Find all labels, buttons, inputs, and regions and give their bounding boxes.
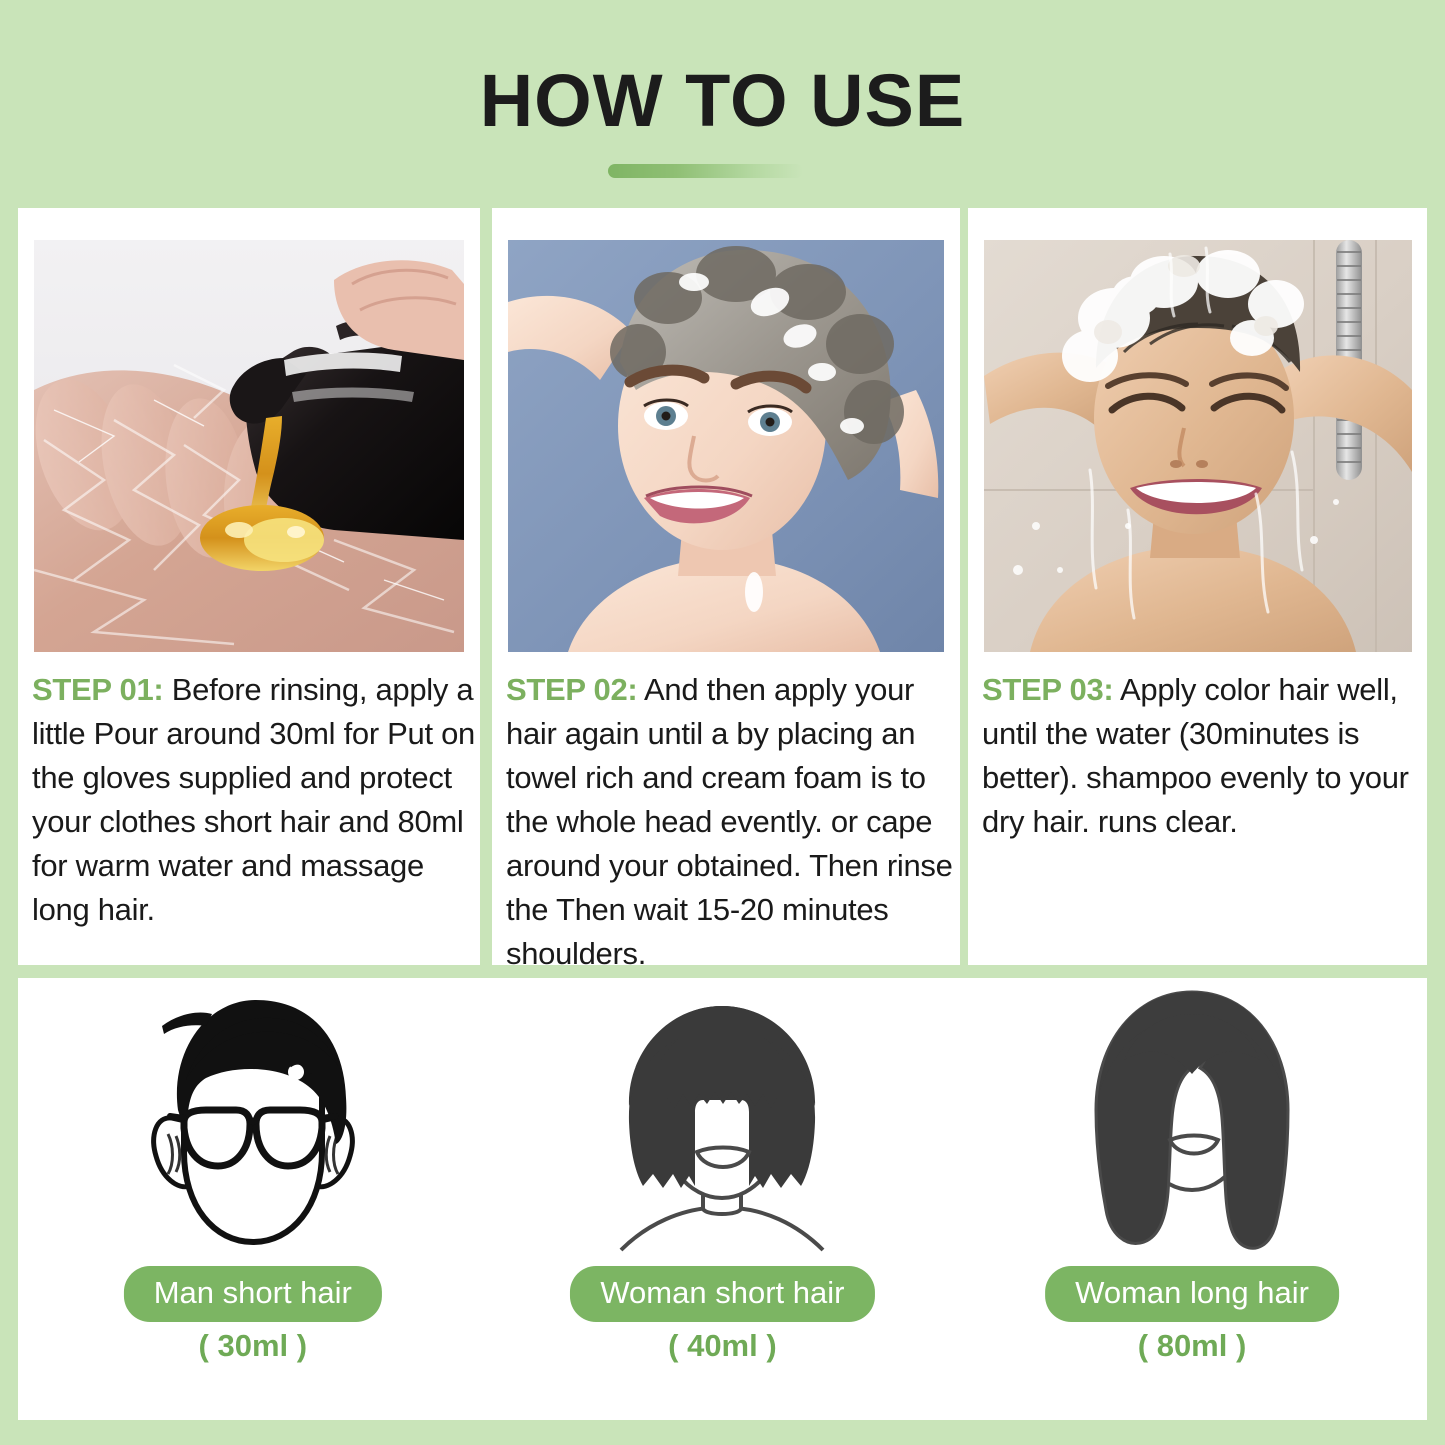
step-2-label: STEP 02: xyxy=(506,672,637,707)
step-card-2: STEP 02: And then apply your hair again … xyxy=(492,208,960,965)
man-short-hair-icon xyxy=(140,994,366,1256)
hair-type-woman-long: Woman long hair ( 80ml ) xyxy=(957,978,1427,1420)
page-title: HOW TO USE xyxy=(0,58,1445,143)
hair-type-card: Man short hair ( 30ml ) xyxy=(18,978,1427,1420)
step-2-photo xyxy=(508,240,944,652)
step-3-photo xyxy=(984,240,1412,652)
step-card-3: STEP 03: Apply color hair well, until th… xyxy=(968,208,1427,965)
woman-long-hair-figure xyxy=(957,988,1427,1256)
woman-long-hair-icon xyxy=(1074,984,1310,1256)
woman-short-hair-figure xyxy=(488,988,958,1256)
steps-row: STEP 01: Before rinsing, apply a little … xyxy=(18,208,1427,965)
step-1-body: Before rinsing, apply a little Pour arou… xyxy=(32,672,475,927)
hair-type-label-woman-short[interactable]: Woman short hair xyxy=(570,1266,874,1322)
hair-type-man-short: Man short hair ( 30ml ) xyxy=(18,978,488,1420)
step-card-1: STEP 01: Before rinsing, apply a little … xyxy=(18,208,480,965)
woman-lathering-shampoo-image xyxy=(508,240,944,652)
step-1-photo xyxy=(34,240,464,652)
step-3-text: STEP 03: Apply color hair well, until th… xyxy=(982,668,1428,844)
hair-type-volume-woman-short: ( 40ml ) xyxy=(488,1328,958,1364)
how-to-use-infographic: HOW TO USE xyxy=(0,0,1445,1445)
man-short-hair-figure xyxy=(18,988,488,1256)
pouring-oil-on-glove-image xyxy=(34,240,464,652)
step-1-label: STEP 01: xyxy=(32,672,163,707)
hair-type-woman-short: Woman short hair ( 40ml ) xyxy=(488,978,958,1420)
step-2-text: STEP 02: And then apply your hair again … xyxy=(506,668,958,976)
hair-type-label-woman-long[interactable]: Woman long hair xyxy=(1045,1266,1339,1322)
hair-type-volume-man-short: ( 30ml ) xyxy=(18,1328,488,1364)
woman-rinsing-hair-image xyxy=(984,240,1412,652)
hair-type-label-man-short[interactable]: Man short hair xyxy=(124,1266,382,1322)
step-1-text: STEP 01: Before rinsing, apply a little … xyxy=(32,668,478,932)
title-accent-bar xyxy=(608,164,803,178)
hair-type-volume-woman-long: ( 80ml ) xyxy=(957,1328,1427,1364)
step-2-body: And then apply your hair again until a b… xyxy=(506,672,953,971)
step-3-label: STEP 03: xyxy=(982,672,1113,707)
woman-short-hair-icon xyxy=(605,994,839,1256)
header: HOW TO USE xyxy=(0,0,1445,208)
